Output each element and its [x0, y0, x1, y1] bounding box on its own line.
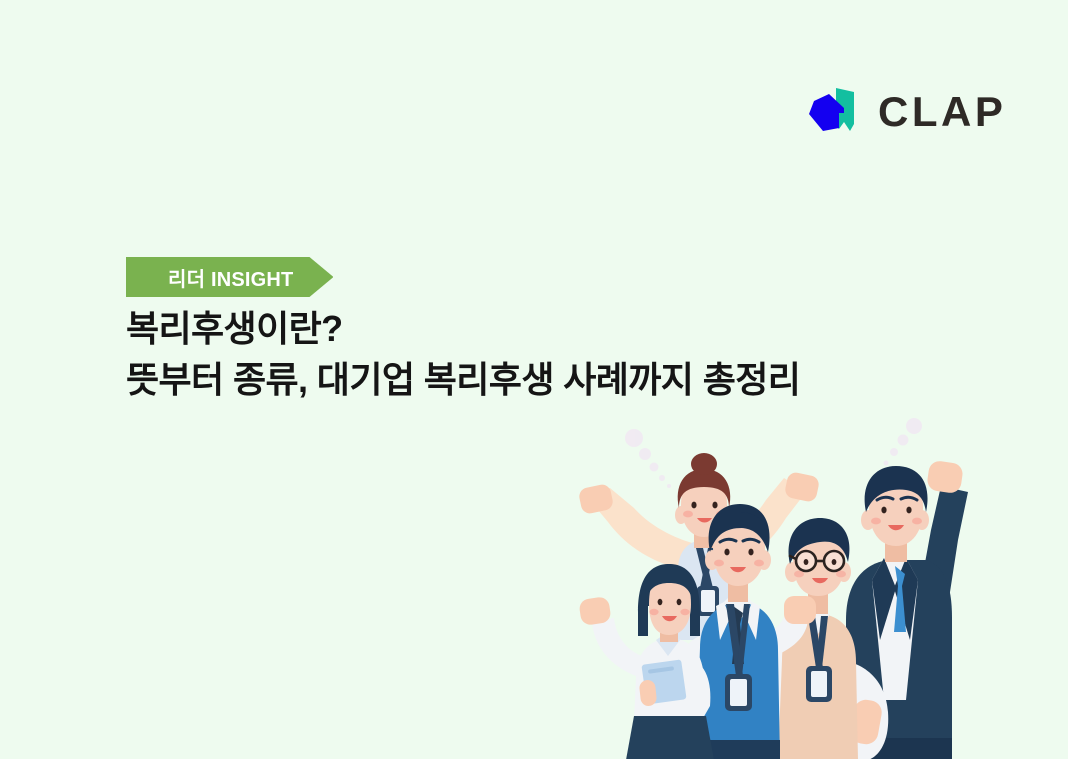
slide-canvas: CLAP 리더 INSIGHT 복리후생이란? 뜻부터 종류, 대기업 복리후생…	[0, 0, 1068, 759]
category-badge: 리더 INSIGHT	[126, 257, 333, 297]
figure-woman-left-bob	[578, 564, 714, 759]
brand-wordmark: CLAP	[878, 91, 1006, 133]
cheering-office-workers-illustration	[556, 410, 1068, 759]
category-badge-label: 리더 INSIGHT	[168, 263, 293, 292]
clap-logo-mark-icon	[806, 86, 864, 138]
page-title-line-1: 복리후생이란?	[126, 303, 800, 354]
page-title-line-2: 뜻부터 종류, 대기업 복리후생 사례까지 총정리	[126, 354, 800, 405]
brand-logo[interactable]: CLAP	[806, 86, 1006, 138]
page-title: 복리후생이란? 뜻부터 종류, 대기업 복리후생 사례까지 총정리	[126, 303, 800, 405]
